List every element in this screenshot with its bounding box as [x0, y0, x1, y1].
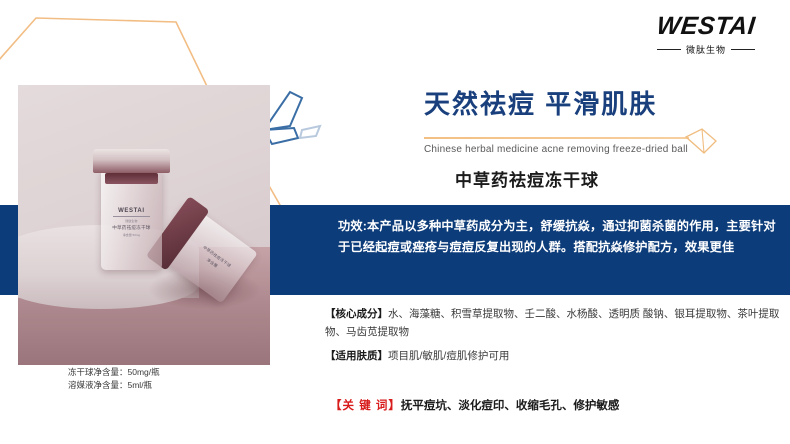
product-info-list: 【核心成分】水、海藻糖、积雪草提取物、壬二酸、水杨酸、透明质 酸钠、银耳提取物、…	[325, 306, 780, 372]
keywords-label: 【关 键 词】	[330, 400, 401, 412]
product-specs: 冻干球净含量：50mg/瓶 溶媒液净含量：5ml/瓶	[68, 366, 160, 392]
skin-type-row: 【适用肤质】项目肌/敏肌/痘肌修护可用	[325, 348, 780, 366]
subtitle-english: Chinese herbal medicine acne removing fr…	[424, 144, 688, 155]
divider-line	[424, 137, 689, 139]
ingredients-label: 【核心成分】	[325, 308, 388, 320]
keywords-value: 抚平痘坑、淡化痘印、收缩毛孔、修护敏感	[401, 400, 620, 412]
slide-canvas: 中草药祛痘冻干球 净含量 WESTAI 微肽生物 中草药祛痘冻干球 净含量 50…	[0, 0, 790, 444]
brand-logo: WESTAI 微肽生物	[640, 14, 772, 56]
efficacy-paragraph: 功效:本产品以多种中草药成分为主，舒缓抗焱，通过抑菌杀菌的作用，主要针对于已经起…	[338, 216, 778, 258]
ingredients-row: 【核心成分】水、海藻糖、积雪草提取物、壬二酸、水杨酸、透明质 酸钠、银耳提取物、…	[325, 306, 780, 342]
page-title: 天然祛痘 平滑肌肤	[424, 84, 657, 121]
logo-rule-right	[731, 49, 755, 50]
brand-wordmark: WESTAI	[639, 14, 774, 39]
skin-type-label: 【适用肤质】	[325, 350, 388, 362]
spec-freeze-dried-ball: 冻干球净含量：50mg/瓶	[68, 366, 160, 379]
subtitle-chinese: 中草药祛痘冻干球	[455, 166, 599, 191]
brand-subtitle: 微肽生物	[686, 43, 726, 56]
logo-rule-left	[657, 49, 681, 50]
skin-type-value: 项目肌/敏肌/痘肌修护可用	[388, 350, 509, 362]
product-photo: 中草药祛痘冻干球 净含量 WESTAI 微肽生物 中草药祛痘冻干球 净含量 50…	[18, 85, 270, 365]
ingredients-value: 水、海藻糖、积雪草提取物、壬二酸、水杨酸、透明质 酸钠、银耳提取物、茶叶提取 物…	[325, 308, 779, 338]
keywords-row: 【关 键 词】抚平痘坑、淡化痘印、收缩毛孔、修护敏感	[330, 398, 619, 415]
spec-solvent-liquid: 溶媒液净含量：5ml/瓶	[68, 379, 160, 392]
peach-diamond-icon	[682, 127, 726, 157]
